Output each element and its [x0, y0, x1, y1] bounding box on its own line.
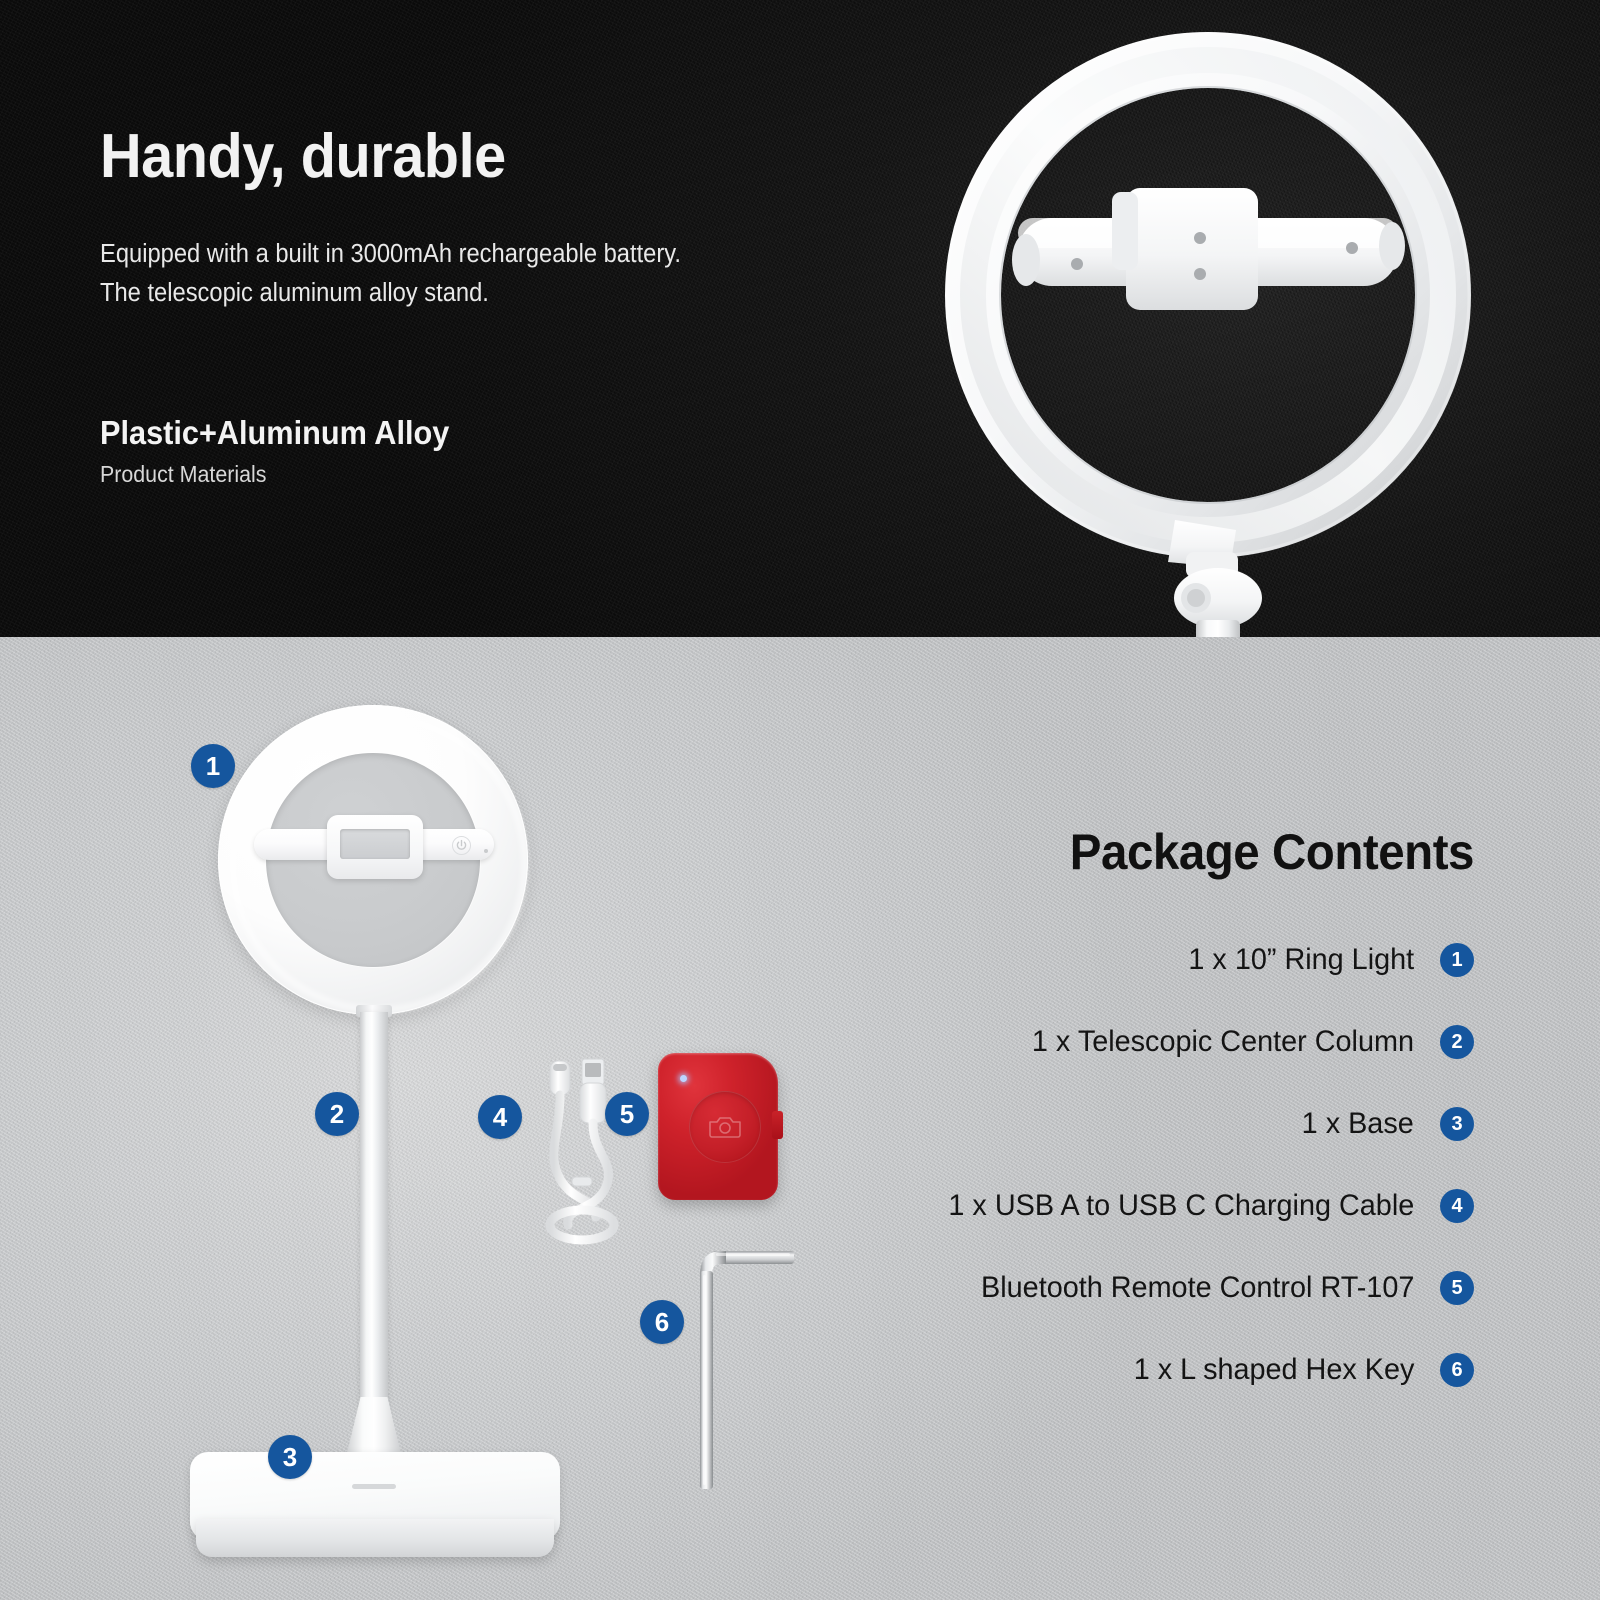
package-item-4[interactable]: 1 x USB A to USB C Charging Cable 4: [714, 1189, 1474, 1223]
package-item-label: 1 x USB A to USB C Charging Cable: [948, 1189, 1414, 1223]
hero-subtitle-line-2: The telescopic aluminum alloy stand.: [100, 274, 825, 313]
phone-holder-slot: [340, 829, 410, 859]
usb-cable-illustration: [520, 1057, 650, 1247]
materials-value: Plastic+Aluminum Alloy: [100, 413, 449, 453]
callout-badge-5[interactable]: 5: [605, 1092, 649, 1136]
callout-badge-4[interactable]: 4: [478, 1095, 522, 1139]
package-item-label: Bluetooth Remote Control RT-107: [981, 1271, 1414, 1305]
hero-title: Handy, durable: [100, 124, 825, 189]
package-contents-panel: Package Contents 1 x 10” Ring Light 1 1 …: [714, 823, 1474, 1387]
callout-badge-1[interactable]: 1: [191, 744, 235, 788]
materials-block: Plastic+Aluminum Alloy Product Materials: [100, 413, 476, 491]
callout-badge-6[interactable]: 6: [640, 1300, 684, 1344]
callout-badge-3[interactable]: 3: [268, 1435, 312, 1479]
indicator-led: [484, 849, 488, 853]
power-button-icon: [452, 836, 471, 855]
package-item-label: 1 x Telescopic Center Column: [1032, 1025, 1414, 1059]
package-item-3[interactable]: 1 x Base 3: [714, 1107, 1474, 1141]
base-notch: [352, 1484, 396, 1489]
materials-label: Product Materials: [100, 458, 449, 491]
package-item-badge: 1: [1440, 943, 1474, 977]
package-item-label: 1 x 10” Ring Light: [1188, 943, 1414, 977]
callout-badge-2[interactable]: 2: [315, 1092, 359, 1136]
product-infographic: Handy, durable Equipped with a built in …: [0, 0, 1600, 1600]
hero-subtitle-line-1: Equipped with a built in 3000mAh recharg…: [100, 235, 825, 274]
hero-ring-light-image: [900, 0, 1600, 637]
package-item-badge: 5: [1440, 1271, 1474, 1305]
package-item-label: 1 x Base: [1302, 1107, 1414, 1141]
usb-charging-cable-part: [520, 1057, 650, 1247]
hero-copy-block: Handy, durable Equipped with a built in …: [100, 124, 880, 313]
package-item-6[interactable]: 1 x L shaped Hex Key 6: [714, 1353, 1474, 1387]
package-item-badge: 3: [1440, 1107, 1474, 1141]
package-item-5[interactable]: Bluetooth Remote Control RT-107 5: [714, 1271, 1474, 1305]
package-item-badge: 6: [1440, 1353, 1474, 1387]
package-item-2[interactable]: 1 x Telescopic Center Column 2: [714, 1025, 1474, 1059]
base-part-side: [196, 1519, 554, 1557]
package-contents-section: 1 2 3 4 5 6 Package Contents 1 x 10” Rin…: [0, 637, 1600, 1600]
package-contents-title: Package Contents: [752, 823, 1474, 881]
package-item-badge: 4: [1440, 1189, 1474, 1223]
ring-light-hero-illustration: [900, 0, 1600, 637]
telescopic-center-column-part: [360, 1012, 388, 1412]
power-glyph: [453, 837, 470, 854]
package-item-1[interactable]: 1 x 10” Ring Light 1: [714, 943, 1474, 977]
package-item-label: 1 x L shaped Hex Key: [1133, 1353, 1414, 1387]
hero-section: Handy, durable Equipped with a built in …: [0, 0, 1600, 637]
column-base-flare: [346, 1397, 402, 1457]
remote-led-indicator: [680, 1075, 687, 1082]
package-item-badge: 2: [1440, 1025, 1474, 1059]
